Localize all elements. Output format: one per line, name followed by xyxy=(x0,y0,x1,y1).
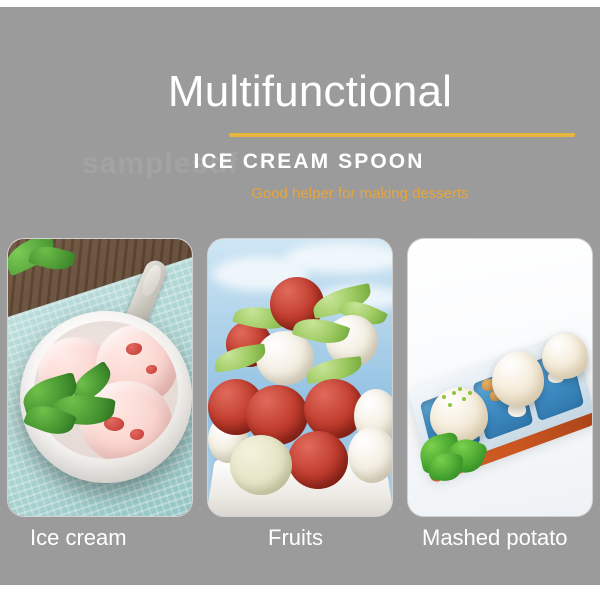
mashed-potato-ball xyxy=(542,333,588,379)
chive-garnish xyxy=(468,391,472,395)
melon-ball xyxy=(348,427,392,483)
fruits-photo xyxy=(208,239,392,516)
mashed-potato-ball xyxy=(492,351,544,407)
product-card-mashed-potato[interactable] xyxy=(408,239,592,516)
tagline-text: Good helper for making desserts xyxy=(0,185,600,202)
mashed-potato-photo xyxy=(408,239,592,516)
caption-row: Ice cream Fruits Mashed potato xyxy=(0,525,600,567)
caption-ice-cream: Ice cream xyxy=(30,525,127,551)
product-card-ice-cream[interactable] xyxy=(8,239,192,516)
ice-cream-photo xyxy=(8,239,192,516)
caption-fruits: Fruits xyxy=(268,525,323,551)
melon-ball xyxy=(288,431,348,489)
chive-garnish xyxy=(448,403,452,407)
chive-garnish xyxy=(452,391,456,395)
product-card-fruits[interactable] xyxy=(208,239,392,516)
chive-garnish xyxy=(442,395,446,399)
product-card-row xyxy=(0,239,600,516)
melon-ball xyxy=(230,435,292,495)
product-poster: samplesdf Multifunctional ICE CREAM SPOO… xyxy=(0,0,600,600)
accent-divider xyxy=(229,133,575,137)
headline-block: Multifunctional xyxy=(0,67,600,118)
caption-mashed-potato: Mashed potato xyxy=(422,525,568,551)
poster-stage: samplesdf Multifunctional ICE CREAM SPOO… xyxy=(0,7,600,585)
page-title: Multifunctional xyxy=(0,67,600,118)
cloud-shape xyxy=(284,243,392,273)
product-subtitle: ICE CREAM SPOON xyxy=(0,150,600,174)
chive-garnish xyxy=(458,387,462,391)
chive-garnish xyxy=(462,397,466,401)
melon-ball xyxy=(256,331,314,385)
